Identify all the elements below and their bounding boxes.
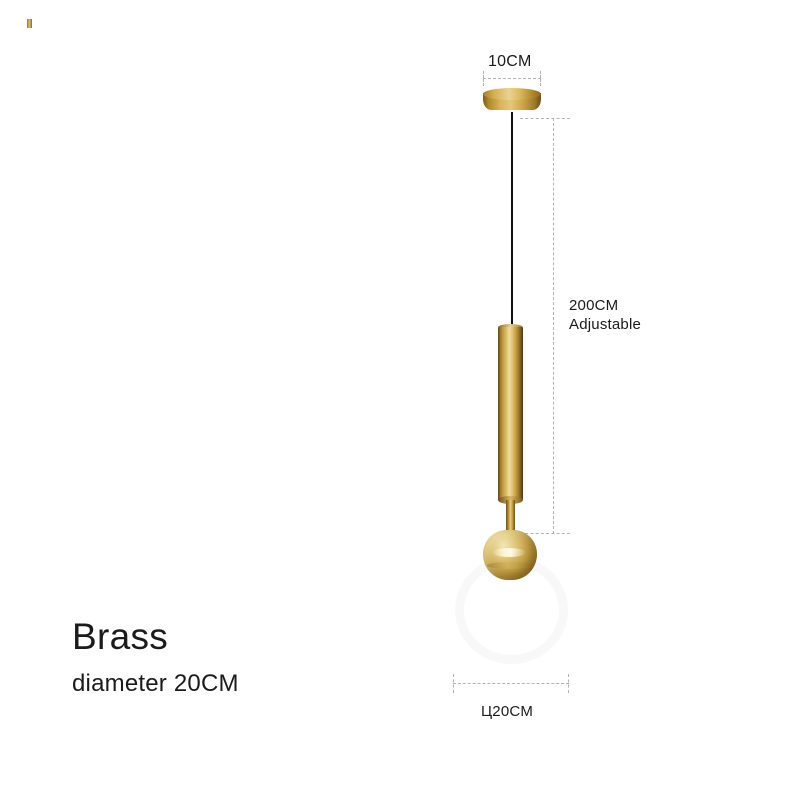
- ceiling-canopy: [483, 88, 541, 111]
- drop-length-label: 200CM Adjustable: [569, 297, 641, 335]
- brass-tube: [498, 327, 523, 501]
- canopy-top-face: [483, 88, 541, 100]
- product-diameter-text: diameter 20CM: [72, 672, 239, 696]
- canopy-width-label: 10CM: [488, 52, 531, 72]
- canopy-width-tick-left: [483, 71, 484, 86]
- canopy-width-dimension-line: [483, 78, 541, 79]
- shade-diameter-tick-left: [453, 674, 454, 693]
- product-material-name: Brass: [72, 618, 239, 655]
- product-spec-diagram: 10CM 200CM Adjustable Ц20CM Brass diamet…: [0, 0, 800, 800]
- socket-band: [487, 562, 533, 569]
- drop-length-dimension-line: [553, 118, 554, 534]
- product-caption: Brass diameter 20CM: [72, 618, 239, 696]
- shade-diameter-tick-right: [568, 674, 569, 693]
- canopy-cord-grip: [27, 19, 32, 28]
- socket-highlight: [492, 548, 526, 557]
- shade-diameter-dimension-line: [453, 683, 569, 684]
- suspension-cord: [511, 112, 513, 330]
- shade-diameter-label: Ц20CM: [481, 703, 533, 722]
- canopy-width-tick-right: [540, 71, 541, 86]
- drop-length-tick-top: [520, 118, 570, 119]
